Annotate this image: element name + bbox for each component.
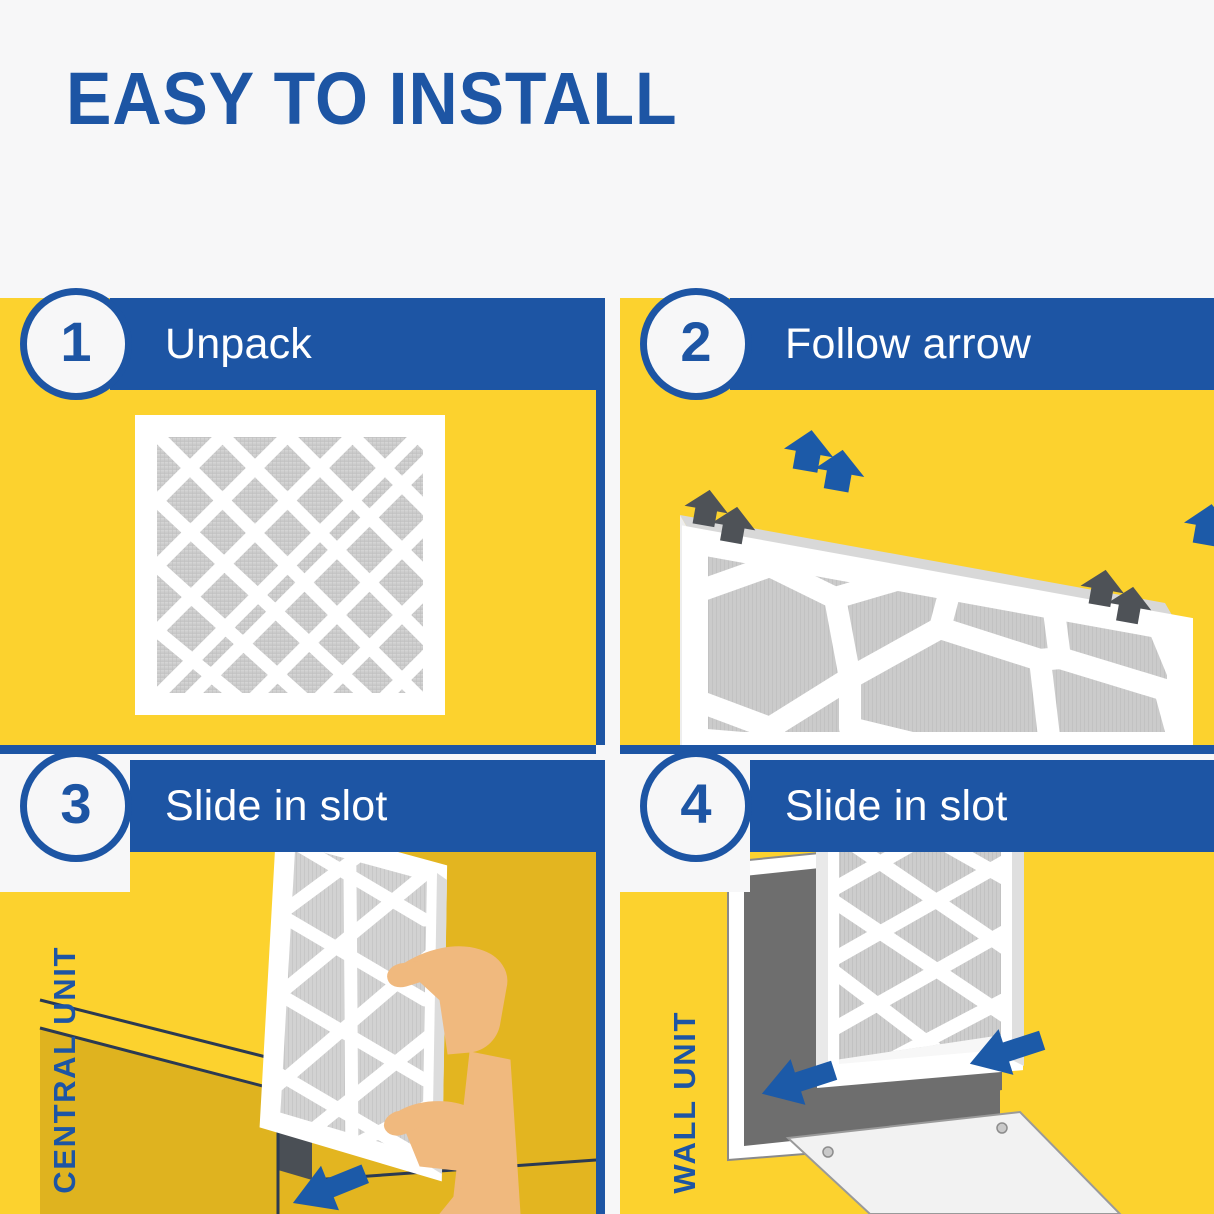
number-four-icon: 4 <box>680 776 711 832</box>
step-number-badge-1: 1 <box>20 288 132 400</box>
step-number-badge-2: 2 <box>640 288 752 400</box>
number-one-icon: 1 <box>60 314 91 370</box>
infographic-root: EASY TO INSTALL <box>0 0 1214 1214</box>
step-label-2: Follow arrow <box>785 320 1031 369</box>
panel-divider-vertical-bottom <box>596 760 605 1214</box>
step-header-4: Slide in slot <box>730 760 1214 852</box>
step-header-2: Follow arrow <box>730 298 1214 390</box>
page-title: EASY TO INSTALL <box>66 56 677 142</box>
step-number-badge-3: 3 <box>20 750 132 862</box>
side-label-wall-unit: WALL UNIT <box>667 1011 703 1194</box>
step-label-4: Slide in slot <box>785 782 1008 831</box>
step-header-1: Unpack <box>110 298 596 390</box>
number-three-icon: 3 <box>60 776 91 832</box>
number-two-icon: 2 <box>680 314 711 370</box>
step-number-badge-4: 4 <box>640 750 752 862</box>
step-label-1: Unpack <box>165 320 312 369</box>
side-label-central-unit: CENTRAL UNIT <box>47 946 83 1194</box>
step-header-3: Slide in slot <box>110 760 596 852</box>
step-label-3: Slide in slot <box>165 782 388 831</box>
panel-divider-vertical-top <box>596 298 605 745</box>
